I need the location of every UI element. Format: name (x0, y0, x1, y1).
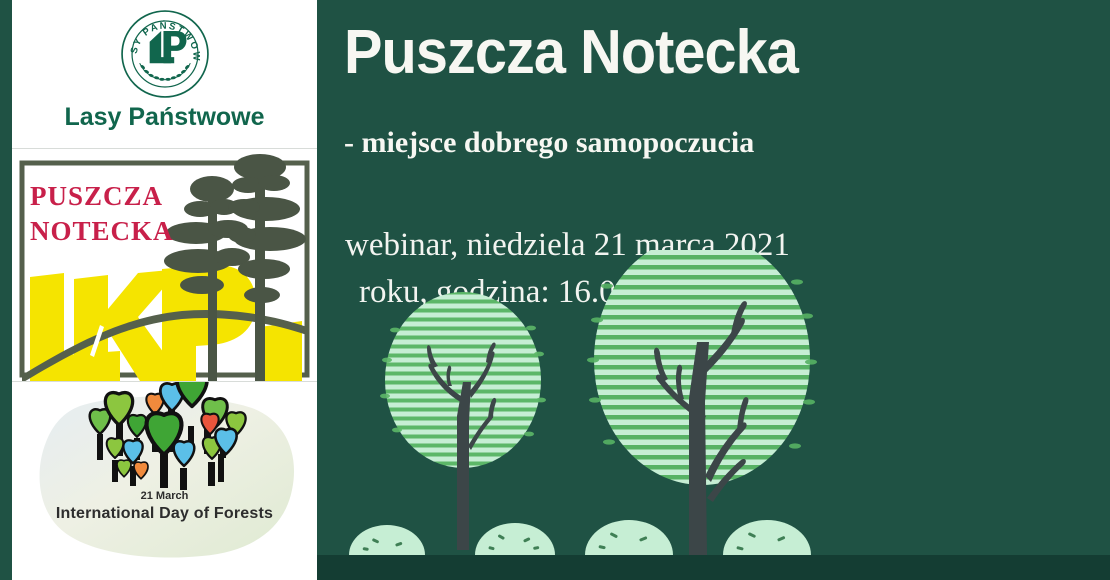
idf-date: 21 March (12, 490, 317, 502)
logo-panel-lasy-panstwowe: LASY PAŃSTWOWE (12, 0, 317, 148)
idf-name: International Day of Forests (12, 505, 317, 523)
lkp-title-line1: PUSZCZA (30, 179, 220, 214)
bushes (349, 520, 811, 555)
lasy-panstwowe-wordmark: Lasy Państwowe (12, 103, 317, 132)
ground-line (317, 555, 1110, 580)
page-title: Puszcza Notecka (344, 22, 798, 84)
bush (475, 523, 555, 555)
lp-monogram (149, 31, 186, 63)
forest-trees-illustration (317, 250, 1110, 580)
poster-root: LASY PAŃSTWOWE (0, 0, 1110, 580)
lasy-panstwowe-emblem: LASY PAŃSTWOWE (119, 8, 211, 100)
tree-small (377, 286, 557, 550)
lkp-title-line2: NOTECKA (30, 214, 220, 249)
lkp-title: PUSZCZA NOTECKA (30, 179, 220, 248)
bush (723, 520, 811, 555)
logo-panel-lkp: PUSZCZA NOTECKA (12, 149, 317, 381)
idf-logo-graphic (12, 382, 317, 580)
bush (349, 525, 425, 555)
logo-column: LASY PAŃSTWOWE (12, 0, 317, 580)
bush (585, 520, 673, 555)
content-area: Puszcza Notecka - miejsce dobrego samopo… (317, 0, 1110, 580)
tree-large (587, 250, 827, 555)
logo-panel-international-day-of-forests: 21 March International Day of Forests (12, 382, 317, 580)
page-subtitle: - miejsce dobrego samopoczucia (344, 128, 754, 158)
